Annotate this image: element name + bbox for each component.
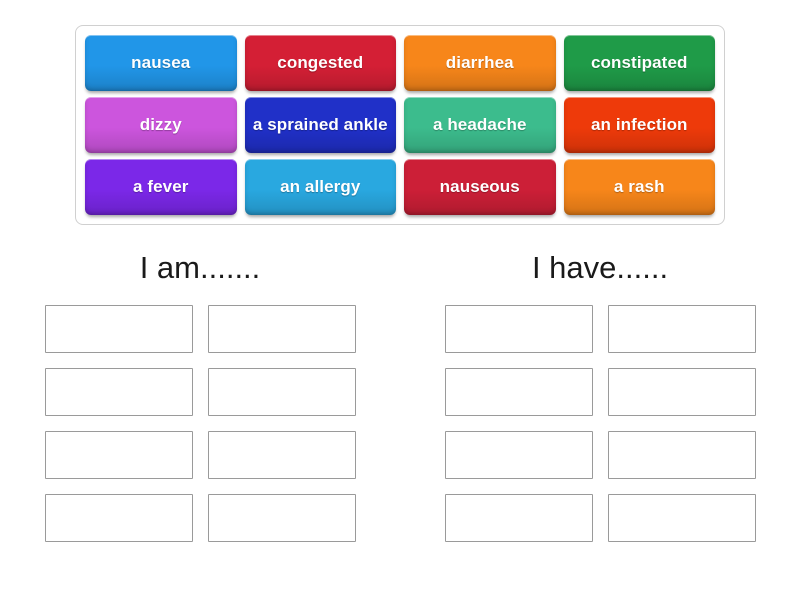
word-tile[interactable]: constipated (564, 35, 716, 91)
word-tile-label: nauseous (440, 178, 520, 196)
tile-row: nausea congested diarrhea constipated (81, 32, 719, 94)
drop-slot[interactable] (45, 494, 193, 542)
word-tile[interactable]: diarrhea (404, 35, 556, 91)
word-tile-label: an allergy (280, 178, 360, 196)
word-tile[interactable]: an allergy (245, 159, 397, 215)
drop-slot[interactable] (445, 368, 593, 416)
drop-slot[interactable] (445, 494, 593, 542)
word-tile[interactable]: nausea (85, 35, 237, 91)
word-tile-label: a headache (433, 116, 527, 134)
word-tile[interactable]: a rash (564, 159, 716, 215)
drop-slot[interactable] (608, 368, 756, 416)
category-column-i-am: I am....... (0, 252, 400, 542)
drop-slot[interactable] (608, 305, 756, 353)
tile-row: dizzy a sprained ankle a headache an inf… (81, 94, 719, 156)
category-column-i-have: I have...... (400, 252, 800, 542)
category-title: I am....... (140, 252, 261, 283)
word-tile[interactable]: an infection (564, 97, 716, 153)
word-tile-label: a rash (614, 178, 665, 196)
drop-slot[interactable] (445, 305, 593, 353)
drop-slot[interactable] (608, 494, 756, 542)
drop-slot-grid (45, 305, 356, 542)
word-tile[interactable]: dizzy (85, 97, 237, 153)
drop-slot[interactable] (208, 368, 356, 416)
drop-slot-grid (445, 305, 756, 542)
drop-slot[interactable] (45, 305, 193, 353)
word-tile[interactable]: nauseous (404, 159, 556, 215)
word-tile-label: nausea (131, 54, 190, 72)
word-tile[interactable]: congested (245, 35, 397, 91)
drop-slot[interactable] (208, 305, 356, 353)
word-tile-tray: nausea congested diarrhea constipated di… (75, 25, 725, 225)
word-tile-label: constipated (591, 54, 688, 72)
word-tile-label: dizzy (140, 116, 182, 134)
word-tile-label: congested (277, 54, 363, 72)
drop-slot[interactable] (608, 431, 756, 479)
word-tile[interactable]: a headache (404, 97, 556, 153)
word-tile-label: an infection (591, 116, 688, 134)
drop-slot[interactable] (445, 431, 593, 479)
drop-slot[interactable] (208, 431, 356, 479)
drop-slot[interactable] (45, 431, 193, 479)
word-tile-label: diarrhea (446, 54, 514, 72)
word-tile-label: a fever (133, 178, 189, 196)
drop-slot[interactable] (45, 368, 193, 416)
category-columns: I am....... I have...... (0, 252, 800, 542)
word-tile-label: a sprained ankle (253, 116, 388, 134)
word-tile[interactable]: a fever (85, 159, 237, 215)
drop-slot[interactable] (208, 494, 356, 542)
word-tile[interactable]: a sprained ankle (245, 97, 397, 153)
tile-row: a fever an allergy nauseous a rash (81, 156, 719, 218)
category-title: I have...... (532, 252, 668, 283)
